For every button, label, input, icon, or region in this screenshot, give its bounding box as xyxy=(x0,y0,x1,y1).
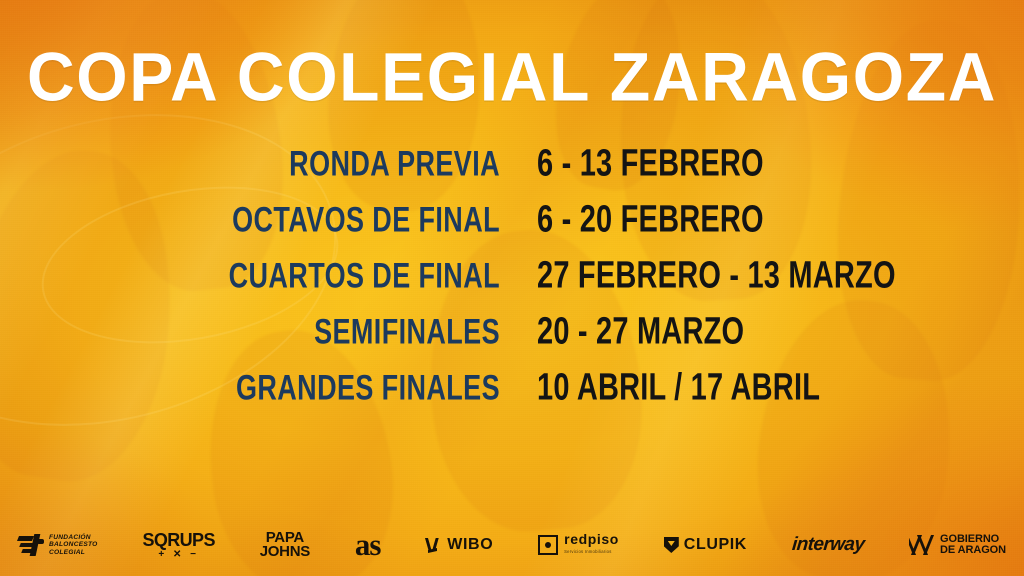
round-dates: 10 ABRIL / 17 ABRIL xyxy=(537,367,1024,410)
sponsor-bar: FUNDACIÓN BALONCESTO COLEGIAL SQRUPS + ✕… xyxy=(0,514,1024,576)
round-label: SEMIFINALES xyxy=(0,312,500,353)
clupik-shield-icon xyxy=(664,537,679,553)
redpiso-wordmark: redpiso Servicios Inmobiliarios xyxy=(564,534,619,557)
fundacion-line-2: BALONCESTO xyxy=(49,541,98,548)
round-dates: 6 - 20 FEBRERO xyxy=(537,199,1024,242)
gobierno-line-2: DE ARAGON xyxy=(940,544,1006,556)
schedule-row: CUARTOS DE FINAL 27 FEBRERO - 13 MARZO xyxy=(0,260,1024,316)
wibo-v-mark-icon xyxy=(425,537,442,554)
round-label: CUARTOS DE FINAL xyxy=(0,256,500,297)
round-label: GRANDES FINALES xyxy=(0,368,500,409)
clupik-wordmark: CLUPIK xyxy=(684,536,747,554)
sqrups-wordmark: SQRUPS xyxy=(142,530,214,551)
sponsor-logo-redpiso: redpiso Servicios Inmobiliarios xyxy=(538,534,619,557)
sponsor-logo-wibo: WIBO xyxy=(425,536,493,554)
sponsor-logo-sqrups: SQRUPS + ✕ − xyxy=(142,530,214,560)
schedule-row: OCTAVOS DE FINAL 6 - 20 FEBRERO xyxy=(0,204,1024,260)
redpiso-subtitle: Servicios Inmobiliarios xyxy=(564,546,619,557)
poster-content: COPA COLEGIAL ZARAGOZA RONDA PREVIA 6 - … xyxy=(0,0,1024,576)
fundacion-basketball-mark-icon xyxy=(18,533,44,557)
gobierno-line-1: GOBIERNO xyxy=(940,533,999,545)
schedule-row: SEMIFINALES 20 - 27 MARZO xyxy=(0,316,1024,372)
sponsor-logo-papa-johns: PAPA JOHNS xyxy=(260,531,310,559)
round-dates: 27 FEBRERO - 13 MARZO xyxy=(537,255,1024,298)
wibo-wordmark: WIBO xyxy=(447,536,493,554)
sponsor-logo-fundacion-baloncesto-colegial: FUNDACIÓN BALONCESTO COLEGIAL xyxy=(18,533,98,557)
schedule-row: RONDA PREVIA 6 - 13 FEBRERO xyxy=(0,148,1024,204)
page-title: COPA COLEGIAL ZARAGOZA xyxy=(0,42,1024,113)
gobierno-wordmark: GOBIERNO DE ARAGON xyxy=(940,534,1006,557)
round-label: OCTAVOS DE FINAL xyxy=(0,200,500,241)
aragon-zigzag-mark-icon xyxy=(909,535,935,555)
sponsor-logo-clupik: CLUPIK xyxy=(664,536,747,554)
sponsor-logo-gobierno-de-aragon: GOBIERNO DE ARAGON xyxy=(909,534,1006,557)
redpiso-square-dot-icon xyxy=(538,535,558,555)
round-dates: 6 - 13 FEBRERO xyxy=(537,143,1024,186)
sqrups-symbols-icon: + ✕ − xyxy=(158,549,199,560)
fundacion-line-1: FUNDACIÓN xyxy=(49,534,91,541)
poster-canvas: COPA COLEGIAL ZARAGOZA RONDA PREVIA 6 - … xyxy=(0,0,1024,576)
fundacion-wordmark: FUNDACIÓN BALONCESTO COLEGIAL xyxy=(49,534,98,556)
round-dates: 20 - 27 MARZO xyxy=(537,311,1024,354)
redpiso-name: redpiso xyxy=(564,531,619,547)
round-label: RONDA PREVIA xyxy=(0,144,500,185)
fundacion-line-3: COLEGIAL xyxy=(49,549,85,556)
sponsor-logo-interway: interway xyxy=(791,534,865,556)
sponsor-logo-as: as xyxy=(355,530,381,560)
papa-johns-line-2: JOHNS xyxy=(260,545,310,559)
schedule-row: GRANDES FINALES 10 ABRIL / 17 ABRIL xyxy=(0,372,1024,428)
schedule-list: RONDA PREVIA 6 - 13 FEBRERO OCTAVOS DE F… xyxy=(0,148,1024,428)
